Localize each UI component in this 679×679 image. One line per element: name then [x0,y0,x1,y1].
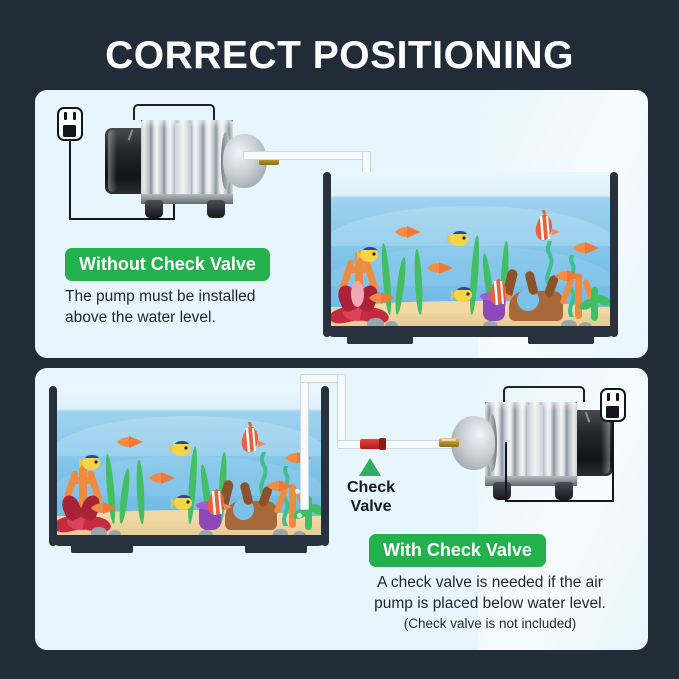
fish-orange [427,260,453,275]
tank-frame-left [49,386,57,546]
power-outlet-icon [57,107,83,141]
note-check-valve-not-included: (Check valve is not included) [345,614,635,633]
tank-foot-left [347,336,413,344]
fish-yellow [447,230,469,248]
fish-yellow [169,440,191,458]
air-tube-horizontal [243,151,371,160]
aquarium-icon [49,386,329,546]
fish-orange [267,478,293,493]
power-cord-horizontal [505,500,614,502]
panel-without-check-valve: Without Check Valve The pump must be ins… [35,90,648,358]
badge-with-check-valve: With Check Valve [369,534,546,567]
air-pump-icon [103,104,267,220]
tank-frame-right [610,172,618,337]
fish-yellow [451,286,473,304]
infographic-stage: CORRECT POSITIONING [0,0,679,679]
bubble [297,513,302,518]
fish-yellow [79,454,101,472]
pump-nozzle [439,438,459,447]
tank-water [323,172,618,337]
tank-foot-left [71,545,133,553]
tank-foot-right [528,336,594,344]
check-valve-label: Check Valve [335,478,407,516]
fish-angel [201,486,231,516]
pump-foot-left [145,200,163,218]
fish-orange [149,470,175,485]
power-cord-vertical [69,141,71,220]
panel-with-check-valve: Check Valve With Check Valve [35,368,648,650]
fish-angel [483,276,513,306]
arrow-up-icon [359,458,381,476]
fish-orange [395,224,421,239]
outlet-slot-left [64,112,67,120]
aquarium-icon [323,172,618,337]
fish-angel [529,210,559,242]
fish-yellow [171,494,193,512]
power-outlet-icon [600,388,626,422]
tank-frame-left [323,172,331,337]
page-title: CORRECT POSITIONING [0,33,679,79]
fish-orange [369,290,395,305]
outlet-slot-left [607,393,610,401]
outlet-ground [63,125,76,137]
fish-orange [91,500,117,515]
outlet-ground [606,406,619,418]
pump-mid-plate [527,405,543,483]
fish-angel [235,422,265,454]
tank-water [49,386,329,546]
air-pump-icon [451,386,615,502]
pump-foot-right [207,200,225,218]
fish-yellow [357,246,379,264]
pump-foot-left [555,482,573,500]
check-valve-icon [360,439,382,449]
plant-leafy [579,281,613,321]
tank-foot-right [245,545,307,553]
pump-handle [133,104,215,120]
fish-orange [555,268,581,283]
pump-mid-plate [175,123,191,201]
fish-orange [117,434,143,449]
pump-foot-right [493,482,511,500]
caption-with-check-valve: A check valve is needed if the air pump … [345,572,635,614]
badge-without-check-valve: Without Check Valve [65,248,270,281]
air-tube-into-tank [300,382,309,510]
caption-without-check-valve: The pump must be installed above the wat… [65,286,325,328]
tank-frame-right [321,386,329,546]
outlet-slot-right [73,112,76,120]
pump-handle [503,386,585,402]
air-tube-down [337,374,346,448]
outlet-slot-right [616,393,619,401]
power-cord-to-pump [505,442,507,502]
power-cord-vertical [612,422,614,502]
fish-orange [573,240,599,255]
